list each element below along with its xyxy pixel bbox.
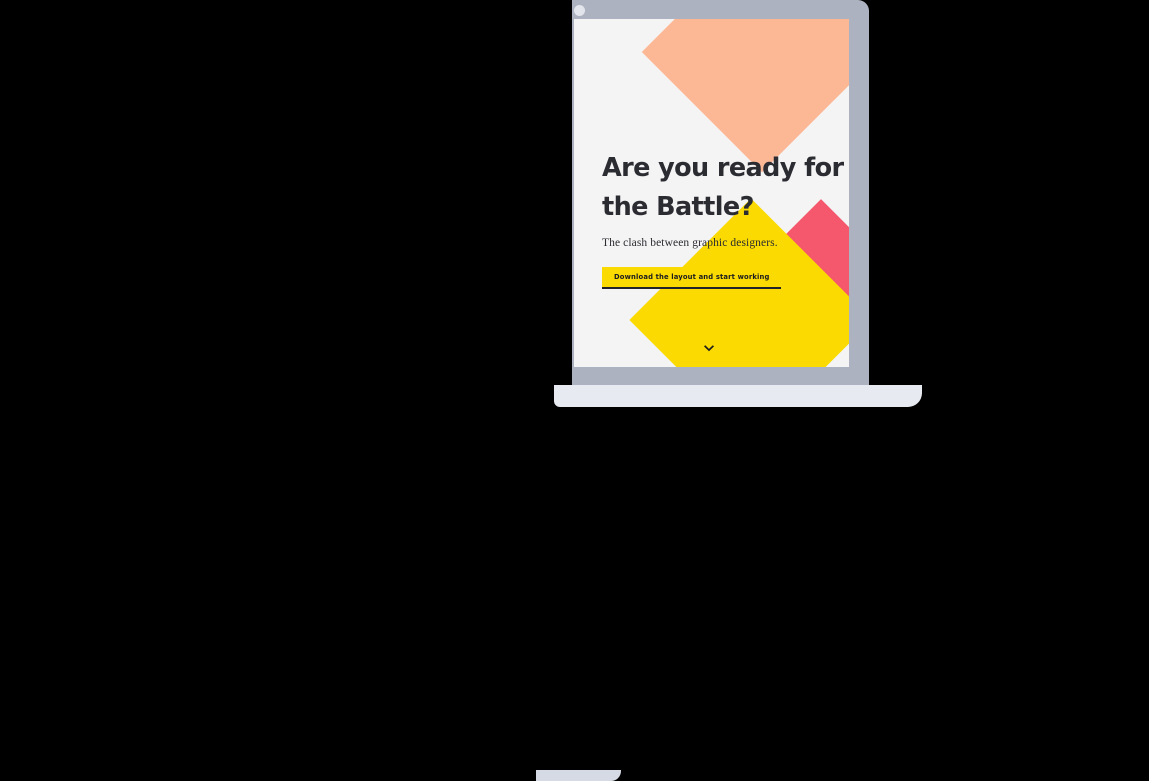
camera-dot-icon [574,5,585,16]
chevron-down-icon[interactable] [702,341,716,355]
hero-content: Are you ready for the Battle? The clash … [602,149,849,289]
laptop-base-deck [554,385,922,407]
download-layout-button[interactable]: Download the layout and start working [602,267,781,289]
hero-subtitle: The clash between graphic designers. [602,236,849,251]
laptop-mockup: Are you ready for the Battle? The clash … [572,0,869,440]
canvas-root: Are you ready for the Battle? The clash … [0,0,1149,440]
laptop-base-shadow [536,770,621,781]
laptop-screen: Are you ready for the Battle? The clash … [574,19,849,367]
page-title: Are you ready for the Battle? [602,149,847,227]
cta-wrapper: Download the layout and start working [602,266,781,289]
